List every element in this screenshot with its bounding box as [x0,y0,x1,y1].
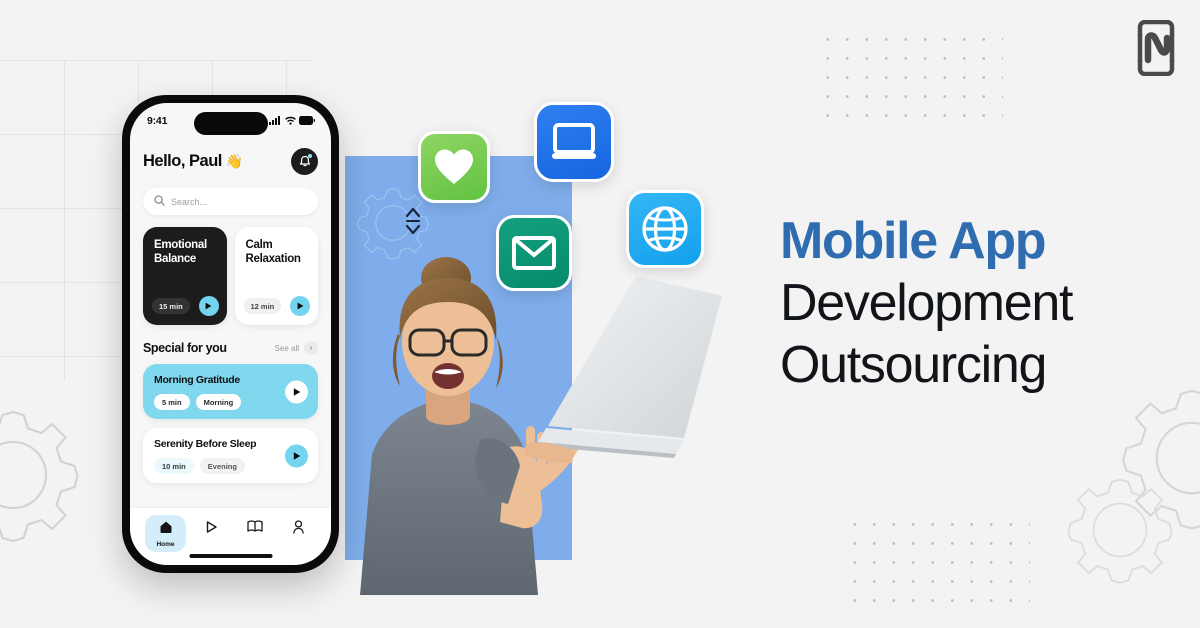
play-button[interactable] [285,380,308,403]
play-button[interactable] [290,296,310,316]
laptop-icon[interactable] [534,102,614,182]
chevron-right-icon: › [304,341,318,355]
brand-logo-n-icon[interactable] [1134,20,1178,76]
home-icon [159,520,173,539]
section-header: Special for you See all › [143,341,318,355]
search-icon [154,193,165,211]
search-input[interactable]: Search... [143,188,318,215]
section-title: Special for you [143,341,227,355]
see-all-button[interactable]: See all › [275,341,318,355]
feature-cards: Emotional Balance 15 min Calm Relaxation [143,227,318,325]
time-of-day-tag: Evening [200,458,245,474]
health-heart-icon[interactable] [418,131,490,203]
duration-chip: 15 min [152,298,190,314]
tab-profile[interactable] [281,515,316,543]
tab-play[interactable] [193,515,229,543]
duration-chip: 12 min [244,298,282,314]
greeting-row: Hello, Paul 👋 [143,148,318,175]
feature-card-title: Calm Relaxation [246,238,309,266]
see-all-label: See all [275,344,299,353]
search-placeholder: Search... [171,197,207,207]
notification-bell-button[interactable] [291,148,318,175]
greeting: Hello, Paul 👋 [143,152,243,171]
headline-line-3: Outsourcing [780,334,1180,396]
book-icon [247,520,263,538]
mail-envelope-icon[interactable] [496,215,572,291]
feature-card-emotional-balance[interactable]: Emotional Balance 15 min [143,227,227,325]
profile-icon [292,520,305,539]
list-item-morning-gratitude[interactable]: Morning Gratitude 5 min Morning [143,364,318,419]
home-indicator [189,554,272,558]
play-icon [205,302,212,310]
chevron-updown-icon [404,203,422,239]
status-time: 9:41 [147,115,167,127]
list-item-serenity-before-sleep[interactable]: Serenity Before Sleep 10 min Evening [143,428,318,483]
tab-library[interactable] [236,515,274,542]
gear-icon [0,400,88,550]
duration-tag: 5 min [154,394,190,410]
laptop-photo [524,268,729,463]
greeting-text: Hello, Paul [143,152,222,171]
play-icon [204,520,218,539]
list-item-title: Morning Gratitude [154,374,308,386]
wave-emoji: 👋 [226,153,243,170]
list-item-title: Serenity Before Sleep [154,438,308,450]
banner-canvas: Mobile App Development Outsourcing 9:41 [0,0,1200,628]
dot-grid-bottom [845,515,1030,615]
duration-tag: 10 min [154,458,194,474]
wifi-icon [285,112,296,130]
status-bar: 9:41 [130,103,331,133]
play-button[interactable] [285,444,308,467]
gear-icon [1060,470,1180,590]
headline: Mobile App Development Outsourcing [780,210,1180,396]
play-icon [297,302,304,310]
globe-web-icon[interactable] [626,190,704,268]
feature-card-title: Emotional Balance [154,238,217,266]
app-content: Hello, Paul 👋 [130,133,331,483]
tab-home-label: Home [156,541,174,548]
headline-line-2: Development [780,272,1180,334]
phone-screen: 9:41 [130,103,331,565]
play-icon [293,451,301,460]
phone-mockup: 9:41 [122,95,339,573]
play-icon [293,387,301,396]
signal-icon [269,112,281,130]
play-button[interactable] [199,296,219,316]
notification-dot [308,154,312,158]
headline-line-1: Mobile App [780,210,1180,272]
feature-card-calm-relaxation[interactable]: Calm Relaxation 12 min [235,227,319,325]
battery-icon [299,112,315,130]
tab-home[interactable]: Home [145,515,185,552]
time-of-day-tag: Morning [196,394,242,410]
dot-grid-top [818,30,1003,130]
